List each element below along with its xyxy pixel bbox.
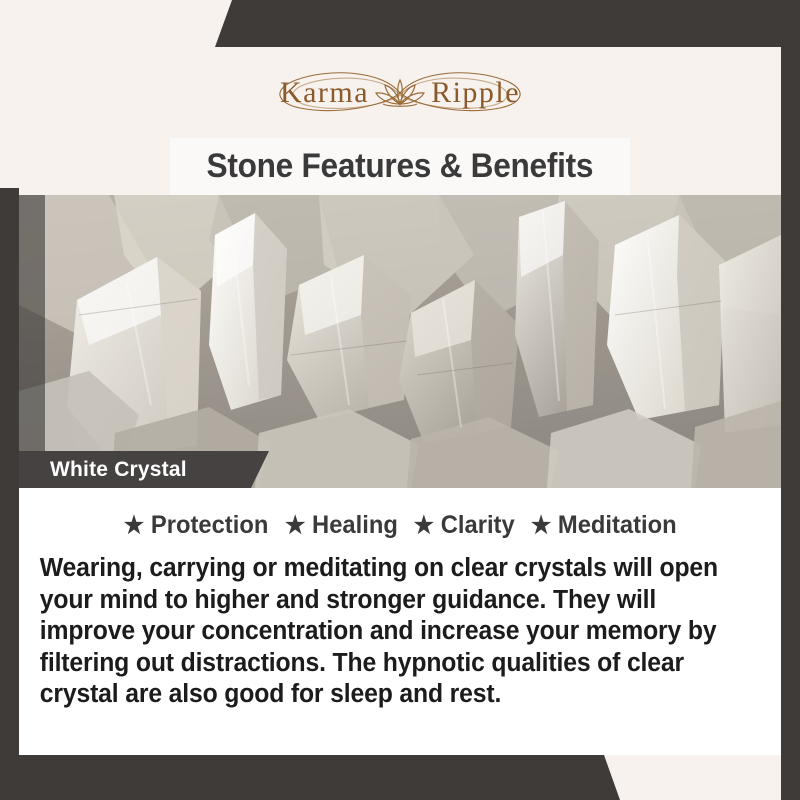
page-title: Stone Features & Benefits — [207, 147, 594, 186]
feature-item-healing: ★ Healing — [285, 511, 398, 540]
right-edge-ribbon — [781, 47, 800, 800]
left-edge-ribbon — [0, 188, 19, 755]
description-paragraph: Wearing, carrying or meditating on clear… — [32, 553, 746, 711]
feature-item-clarity: ★ Clarity — [413, 511, 514, 540]
brand-name: Karma Ripple — [280, 76, 520, 110]
feature-item-protection: ★ Protection — [123, 511, 268, 540]
crystal-cluster-illustration — [19, 195, 781, 488]
content-area: ★ Protection ★ Healing ★ Clarity ★ Medit… — [19, 488, 781, 755]
crystal-photo: White Crystal — [19, 195, 781, 488]
feature-label: Healing — [312, 511, 398, 540]
feature-label: Meditation — [558, 511, 677, 540]
stone-name-label: White Crystal — [19, 451, 269, 488]
brand-name-left: Karma — [280, 76, 369, 110]
feature-label: Clarity — [440, 511, 514, 540]
top-right-corner-ribbon — [215, 0, 800, 47]
star-icon: ★ — [285, 514, 305, 538]
brand-logo: Karma Ripple — [250, 62, 550, 124]
star-icon: ★ — [531, 514, 551, 538]
feature-list: ★ Protection ★ Healing ★ Clarity ★ Medit… — [32, 488, 768, 540]
star-icon: ★ — [123, 514, 143, 538]
brand-name-right: Ripple — [431, 76, 520, 110]
brand-header: Karma Ripple — [19, 47, 781, 138]
card-page: Karma Ripple Stone Features & Benefits — [19, 47, 781, 755]
stone-name-text: White Crystal — [19, 458, 187, 482]
feature-label: Protection — [150, 511, 267, 540]
star-icon: ★ — [413, 514, 433, 538]
title-band: Stone Features & Benefits — [170, 138, 630, 195]
feature-item-meditation: ★ Meditation — [531, 511, 677, 540]
stone-info-card: Karma Ripple Stone Features & Benefits — [0, 0, 800, 800]
bottom-left-corner-ribbon — [0, 755, 620, 800]
